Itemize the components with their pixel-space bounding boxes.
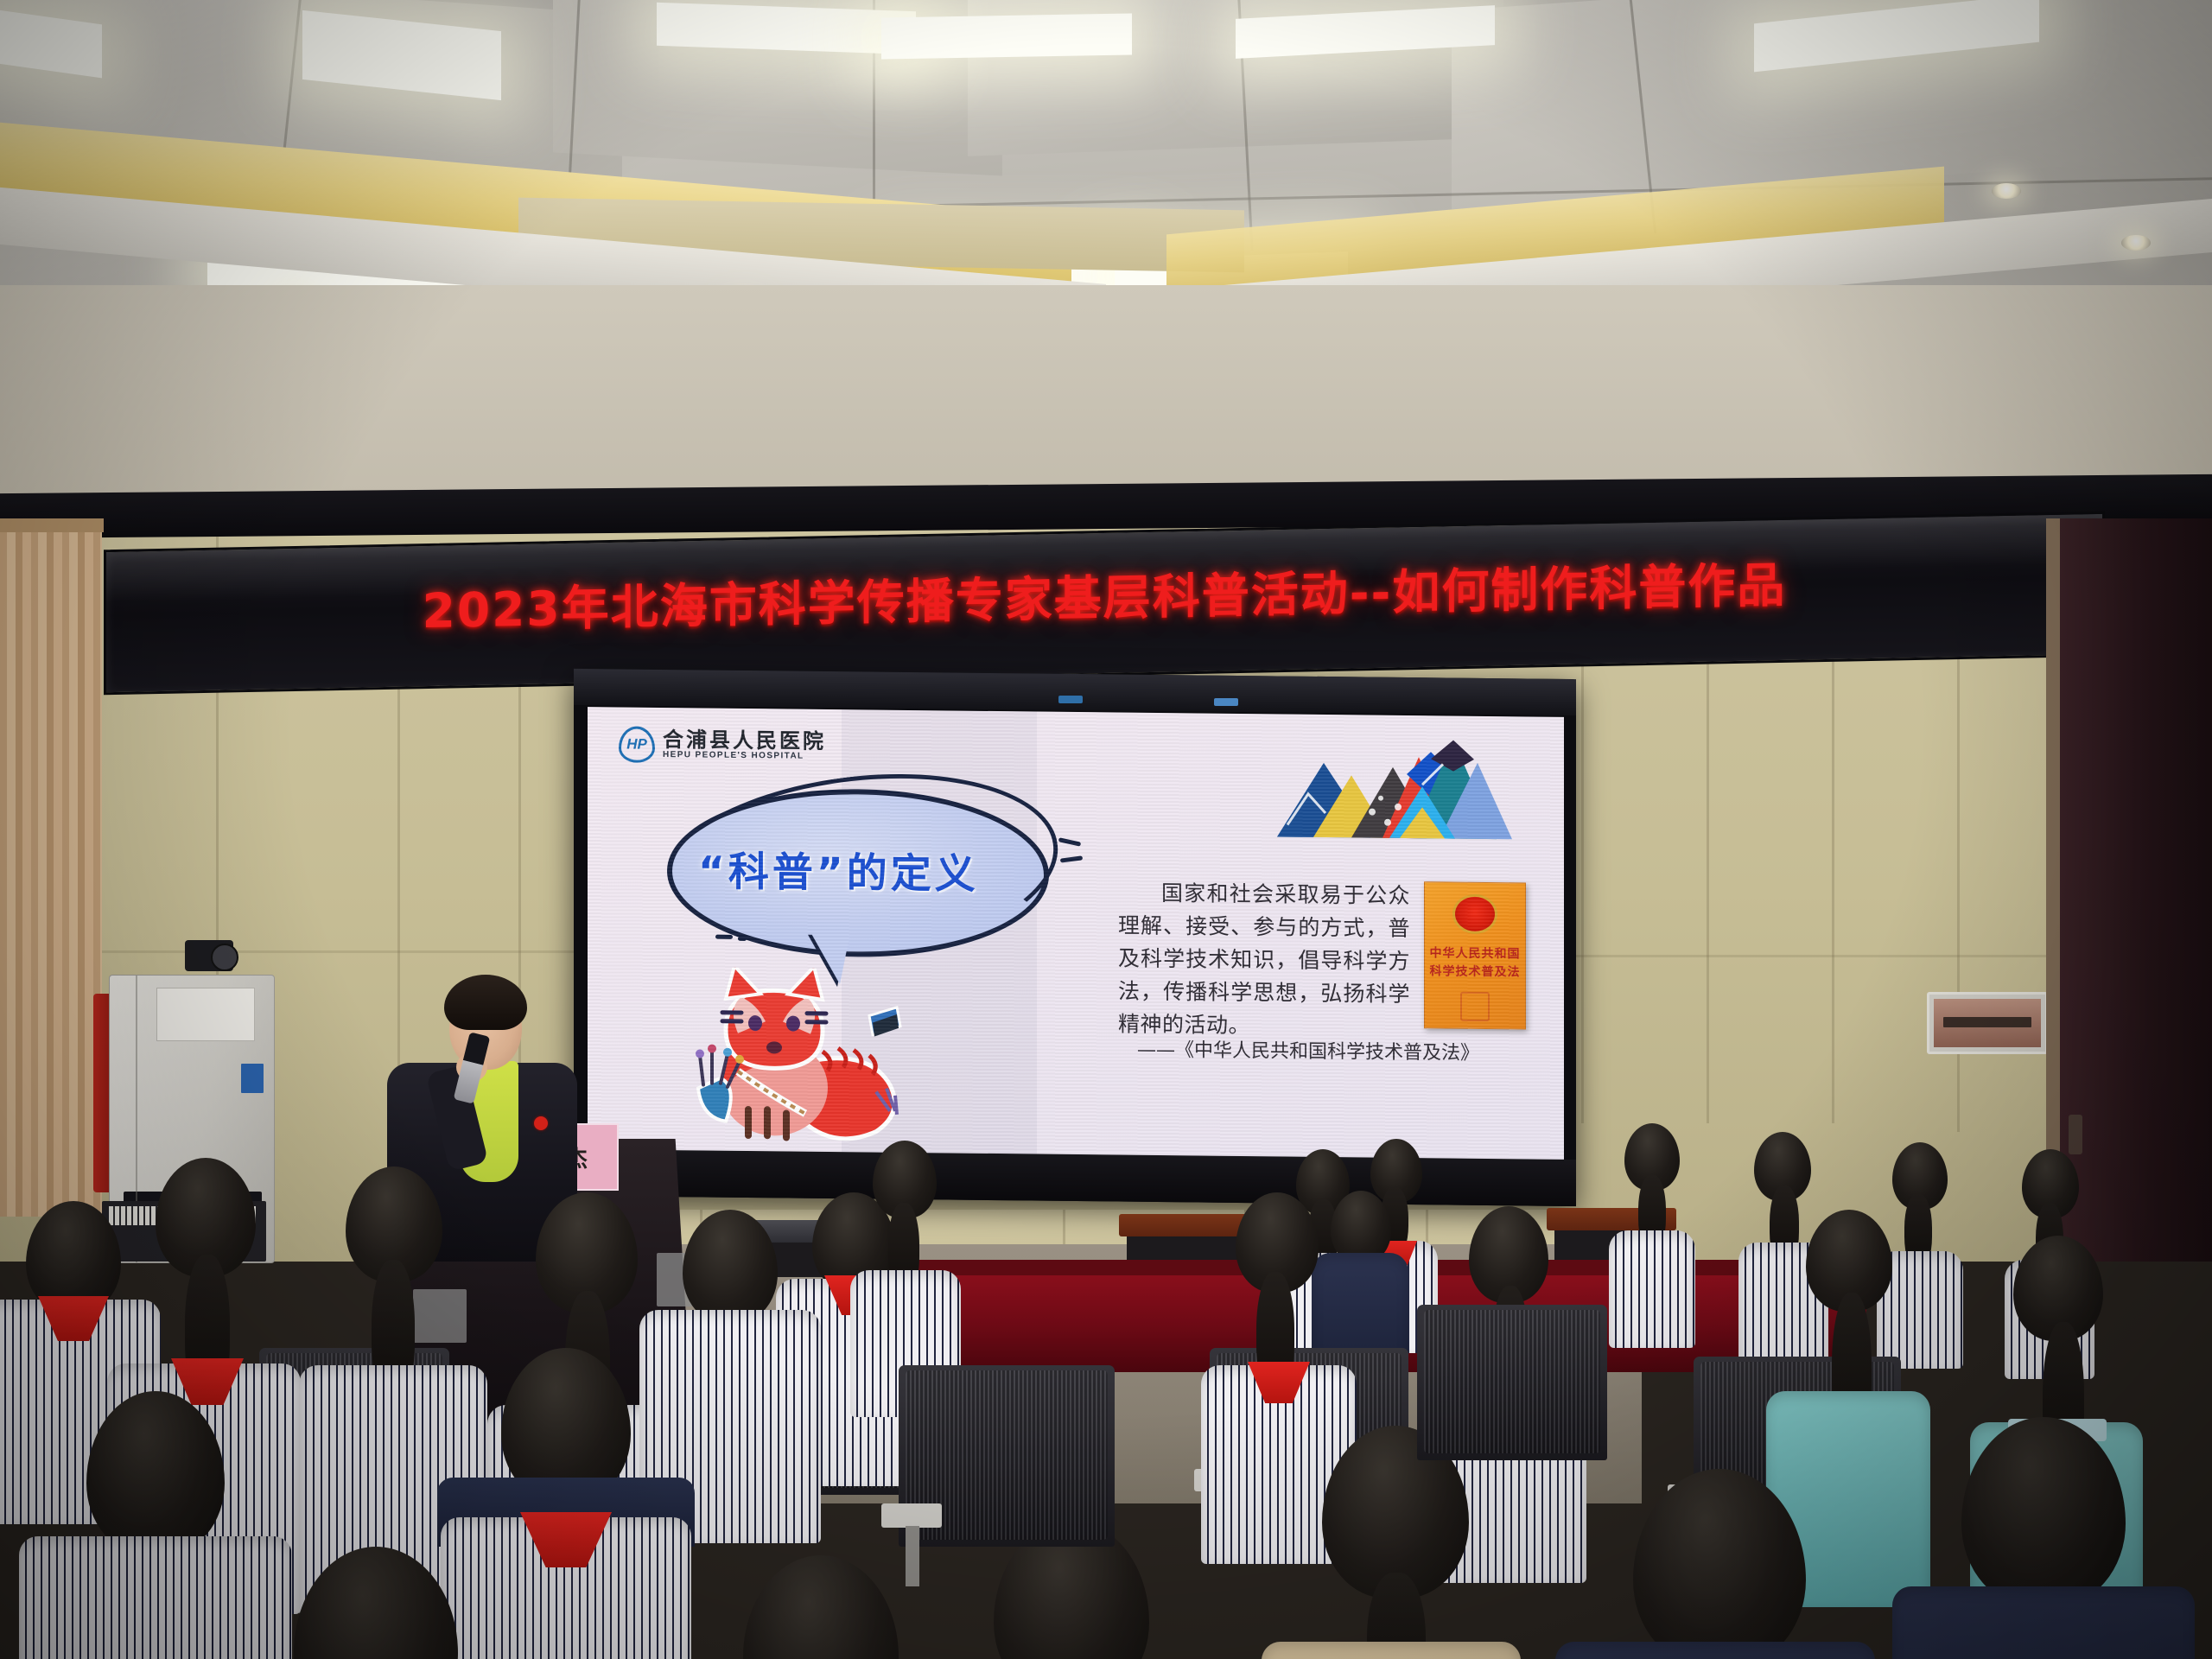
student-head xyxy=(743,1555,899,1659)
student-uniform xyxy=(1555,1642,1875,1659)
wall-seam xyxy=(1707,588,1709,1123)
chair-backrest xyxy=(1119,1214,1249,1236)
ceiling-downlight xyxy=(2121,235,2151,251)
ac-label xyxy=(241,1064,264,1093)
wall-vent-slat xyxy=(1943,1017,2031,1027)
student-uniform xyxy=(1892,1586,2195,1659)
ceiling-panel-light xyxy=(657,3,916,54)
projector-scanline-overlay xyxy=(588,707,1564,1160)
wall-seam xyxy=(1573,955,2126,957)
wall-seam xyxy=(1832,588,1834,1123)
door-handle xyxy=(2069,1115,2082,1154)
screen-bezel-clip xyxy=(1214,698,1238,706)
chair-arm-post xyxy=(906,1526,919,1586)
photo-scene: 2023年北海市科学传播专家基层科普活动--如何制作科普作品 HP 合浦县人民医… xyxy=(0,0,2212,1659)
student-uniform xyxy=(1609,1230,1695,1348)
curtain-rail xyxy=(0,518,104,532)
chair-mesh xyxy=(1424,1310,1600,1453)
student-uniform xyxy=(19,1536,292,1659)
window-curtain xyxy=(0,525,102,1217)
lapel-badge xyxy=(534,1116,548,1130)
wall-vent xyxy=(1927,992,2048,1054)
student-jacket xyxy=(1262,1642,1521,1659)
wall-seam xyxy=(1581,588,1584,1123)
camera-lens-icon xyxy=(211,944,238,971)
presentation-slide: HP 合浦县人民医院 HEPU PEOPLE'S HOSPITAL xyxy=(588,707,1564,1160)
auditorium-chair xyxy=(1417,1305,1607,1460)
screen-bezel-clip xyxy=(1058,696,1083,703)
ac-display-panel xyxy=(156,988,255,1041)
chair-armrest xyxy=(881,1503,942,1528)
ceiling-panel-light xyxy=(881,13,1132,59)
podium-panel xyxy=(413,1289,467,1343)
ceiling-downlight xyxy=(1992,183,2021,199)
